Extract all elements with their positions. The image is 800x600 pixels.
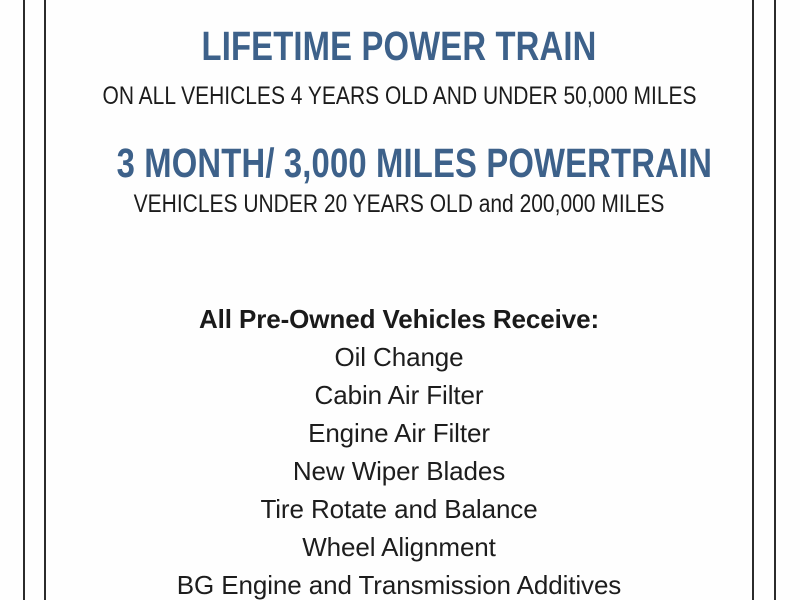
- services-list-heading: All Pre-Owned Vehicles Receive:: [46, 300, 752, 338]
- service-list-item: Tire Rotate and Balance: [46, 490, 752, 528]
- service-list-item: Engine Air Filter: [46, 414, 752, 452]
- service-list-item: Cabin Air Filter: [46, 376, 752, 414]
- border-rule-right-outer: [774, 0, 776, 600]
- service-list-item: New Wiper Blades: [46, 452, 752, 490]
- border-rule-left-outer: [23, 0, 25, 600]
- service-list-item: Oil Change: [46, 338, 752, 376]
- lifetime-powertrain-headline: LIFETIME POWER TRAIN: [117, 26, 682, 67]
- border-rule-right-inner: [752, 0, 754, 600]
- service-list-item: BG Engine and Transmission Additives: [46, 566, 752, 600]
- three-month-powertrain-eligibility: VEHICLES UNDER 20 YEARS OLD and 200,000 …: [102, 192, 695, 217]
- service-list-item: Wheel Alignment: [46, 528, 752, 566]
- flyer-canvas: LIFETIME POWER TRAIN ON ALL VEHICLES 4 Y…: [0, 0, 800, 600]
- lifetime-powertrain-eligibility: ON ALL VEHICLES 4 YEARS OLD AND UNDER 50…: [102, 84, 695, 109]
- flyer-content-column: LIFETIME POWER TRAIN ON ALL VEHICLES 4 Y…: [46, 0, 752, 600]
- three-month-powertrain-headline: 3 MONTH/ 3,000 MILES POWERTRAIN: [117, 143, 682, 184]
- services-list: All Pre-Owned Vehicles Receive: Oil Chan…: [46, 300, 752, 600]
